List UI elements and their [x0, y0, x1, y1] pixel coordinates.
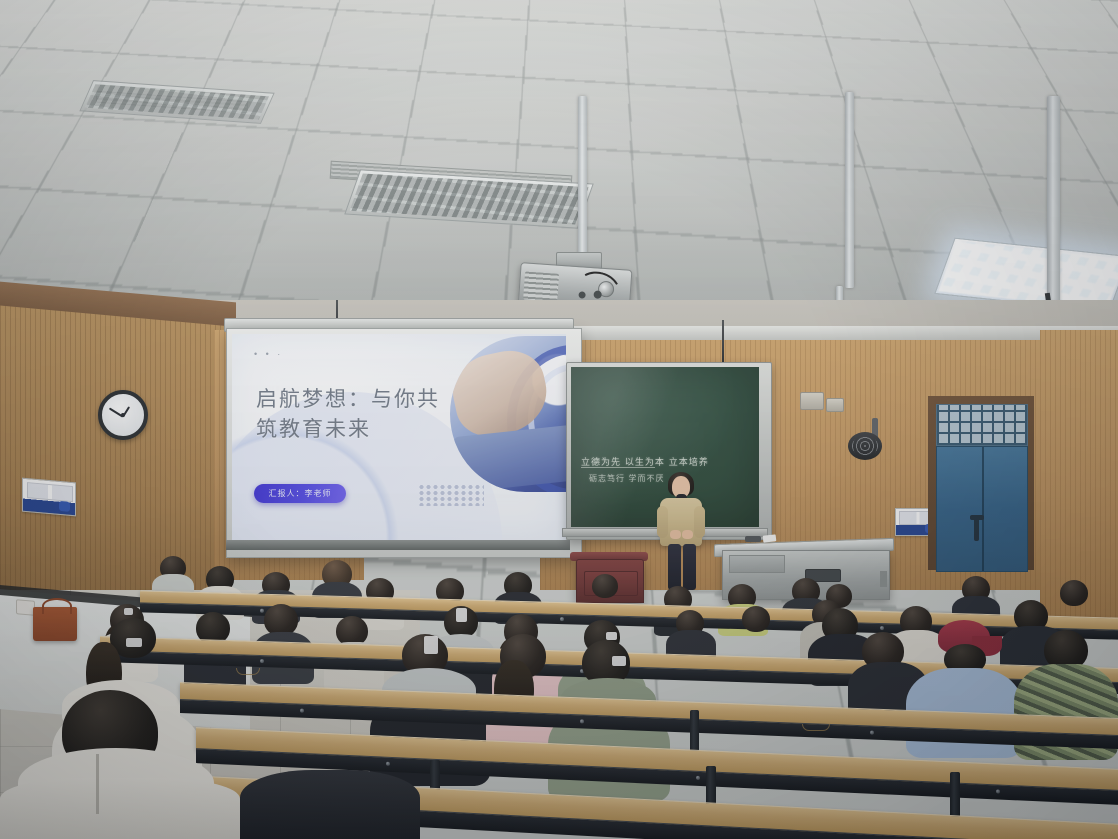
- desk-rivet: [870, 730, 874, 734]
- handbag-handle: [42, 598, 72, 614]
- presenter-hand: [682, 530, 693, 539]
- slide-dot-grid: [418, 484, 484, 506]
- presentation-slide: • • · 启航梦想：与你共 筑教育未来 汇报人：李老师: [232, 334, 566, 542]
- slide-title-line1: 启航梦想：与你共: [256, 386, 440, 413]
- clock-center: [121, 413, 125, 417]
- placard-icon: [59, 500, 70, 512]
- desk-rivet: [260, 659, 264, 663]
- hair-clip: [124, 608, 133, 615]
- slide-decor-dots: • • ·: [254, 349, 283, 359]
- console-slot: [880, 571, 887, 587]
- wood-wall-left: [0, 305, 232, 626]
- door-seam: [982, 447, 984, 571]
- hair-clip: [606, 632, 617, 640]
- student-body-foreground: [240, 770, 420, 839]
- desk-rivet: [996, 789, 1000, 793]
- desk-rivet: [386, 762, 390, 766]
- door-handle[interactable]: [974, 517, 979, 541]
- placard-panes: [27, 482, 73, 503]
- presenter-leg-left: [668, 544, 681, 590]
- presenter-hand: [670, 530, 681, 539]
- hair-clip: [126, 638, 142, 647]
- microphone-wire: [722, 320, 724, 368]
- slide-presenter-badge: 汇报人：李老师: [254, 484, 346, 503]
- console-device: [745, 536, 761, 542]
- hair-clip: [612, 656, 626, 666]
- student-body-foreground: [0, 778, 240, 839]
- desk-rivet: [300, 709, 304, 713]
- slide-photo-laptop: [453, 422, 566, 492]
- presenter-arm-left: [657, 506, 668, 538]
- classroom-door[interactable]: [936, 446, 1028, 572]
- console-paper: [763, 534, 777, 542]
- desk-leg: [690, 710, 699, 754]
- desk-rivet: [560, 617, 564, 621]
- wall-speaker: [800, 392, 824, 410]
- screen-bottom-bar: [226, 540, 570, 550]
- student-head: [742, 606, 770, 632]
- fan-grille: [852, 436, 878, 456]
- wood-wall-right: [1040, 330, 1118, 620]
- desk-rivet: [880, 626, 884, 630]
- desk-drawer-handle: [236, 668, 260, 675]
- wall-cap-back: [540, 326, 1118, 340]
- hair-clip: [424, 636, 438, 654]
- transom-grille: [937, 405, 1027, 445]
- louver-grid: [350, 173, 589, 224]
- notice-placard-left: [22, 478, 76, 517]
- wall-speaker: [826, 398, 844, 412]
- door-transom: [936, 404, 1028, 446]
- desk-rivet: [260, 609, 264, 613]
- handbag: [33, 607, 77, 641]
- student-head: [1060, 580, 1088, 606]
- projection-screen: • • · 启航梦想：与你共 筑教育未来 汇报人：李老师: [226, 328, 582, 558]
- projector-vent: [523, 271, 559, 301]
- wall-clock: [98, 390, 148, 440]
- hair-clip: [456, 608, 467, 622]
- camera-pole: [845, 92, 854, 288]
- presenter-arm-right: [694, 506, 705, 538]
- projector-pole: [578, 96, 587, 256]
- desk-rivet: [580, 719, 584, 723]
- chalk-text-line2: 砺志笃行 学而不厌: [589, 473, 665, 484]
- presenter-leg-right: [683, 544, 696, 590]
- console-drawer: [729, 555, 785, 573]
- chalk-underline: [581, 467, 655, 468]
- hood-seam: [96, 754, 99, 814]
- desk-drawer-handle: [802, 724, 830, 731]
- desk-rivet: [696, 776, 700, 780]
- slide-title-line2: 筑教育未来: [256, 416, 371, 443]
- classroom-photo: • • · 启航梦想：与你共 筑教育未来 汇报人：李老师 立德为先 以生为本 立…: [0, 0, 1118, 839]
- student-head: [592, 574, 618, 598]
- door-push-bar[interactable]: [970, 515, 984, 520]
